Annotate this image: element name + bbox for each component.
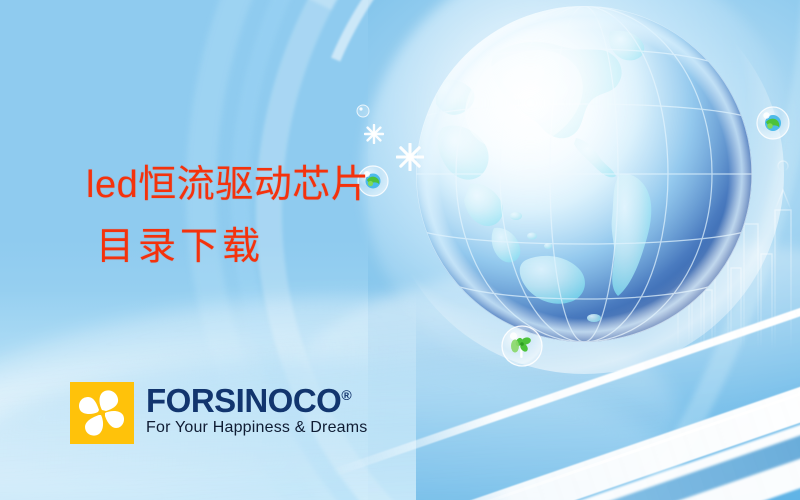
headline-line-2: 目录下载 (96, 228, 369, 268)
page-title: led恒流驱动芯片 目录下载 (86, 166, 369, 268)
registered-trademark-icon: ® (341, 387, 351, 403)
promo-banner: led恒流驱动芯片 目录下载 FORSINOCO® For Your Happi… (0, 0, 800, 500)
logo-brand-word: FORSINOCO (146, 382, 341, 419)
logo-tagline: For Your Happiness & Dreams (146, 419, 368, 437)
logo-text-block: FORSINOCO® For Your Happiness & Dreams (146, 382, 368, 437)
headline-line-1: led恒流驱动芯片 (86, 166, 369, 206)
logo-brand-name: FORSINOCO® (146, 384, 368, 417)
brand-logo: FORSINOCO® For Your Happiness & Dreams (70, 382, 368, 444)
four-petal-pinwheel-icon (70, 382, 134, 444)
